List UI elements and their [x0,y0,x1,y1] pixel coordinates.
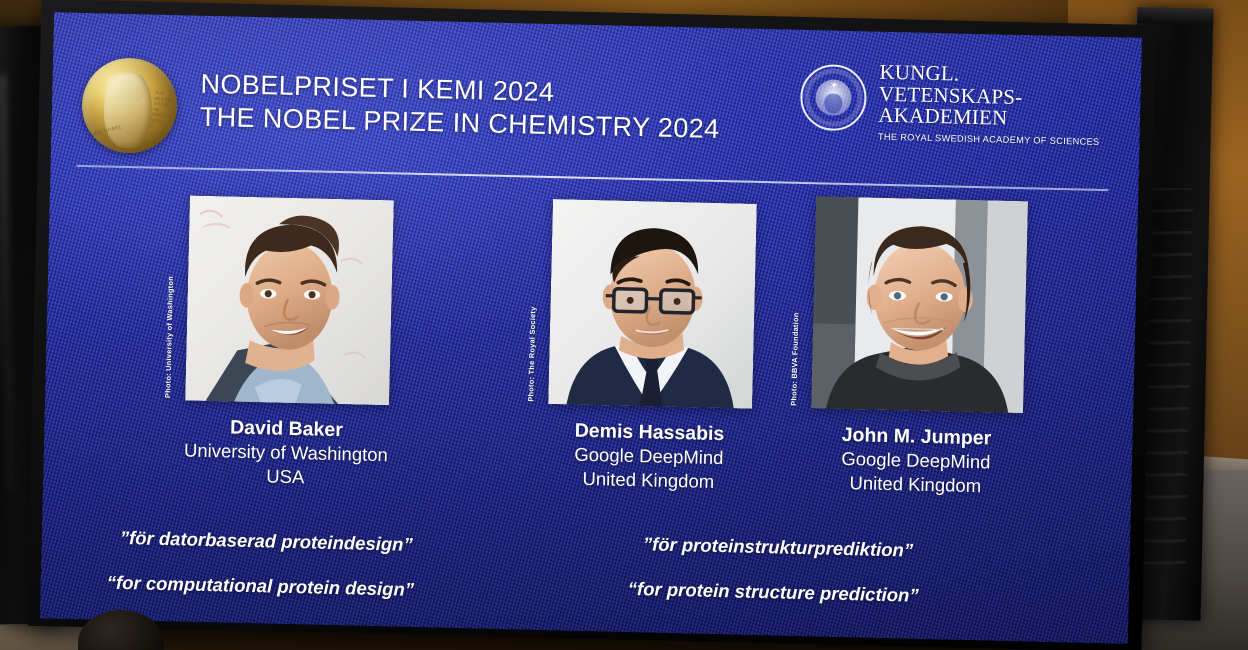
citation-right-swedish: ”för proteinstrukturprediktion” [643,533,914,561]
slide-content: ALFR. NOBEL NATMDCCCXXXIIIOBMDCCCXCVI NO… [40,12,1142,643]
citation-right-english: “for protein structure prediction” [628,578,919,607]
led-screen-surface: ALFR. NOBEL NATMDCCCXXXIIIOBMDCCCXCVI NO… [40,12,1142,643]
speaker-sheen [0,74,15,493]
speaker-cap [1137,7,1213,25]
presentation-screen: ALFR. NOBEL NATMDCCCXXXIIIOBMDCCCXCVI NO… [27,0,1156,650]
citations-block: ”för datorbaserad proteindesign” “for co… [40,12,1142,643]
citation-left-swedish: ”för datorbaserad proteindesign” [120,527,413,556]
photo-scene: ALFR. NOBEL NATMDCCCXXXIIIOBMDCCCXCVI NO… [0,0,1248,650]
citation-left-english: “for computational protein design” [107,572,415,601]
